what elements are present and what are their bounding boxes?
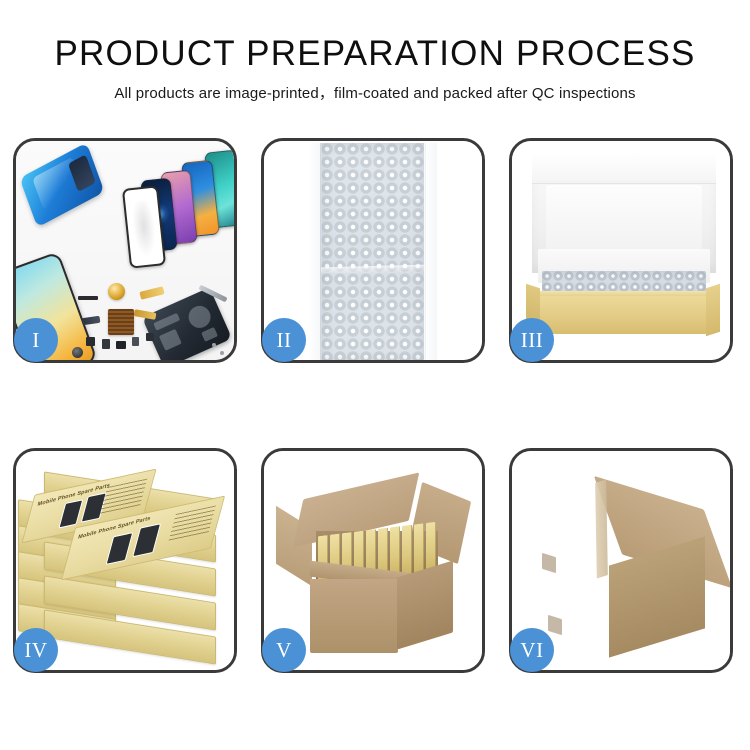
process-steps-grid: I II III [13,138,737,673]
earpiece-speaker-icon [78,296,98,300]
carton-seam-2-icon [548,615,562,635]
product-preparation-infographic: PRODUCT PREPARATION PROCESS All products… [0,0,750,750]
step-badge-6: VI [510,628,554,672]
bubble-wrap-icon [320,143,426,360]
chip-grid-icon [108,309,134,335]
box-print-phone-1-icon [58,499,83,528]
inner-box-base-icon [530,296,716,334]
flex-cable-a-icon [139,286,164,300]
box-print-phone-3-icon [106,532,134,565]
bubble-wrap-edge-right [424,143,437,360]
connector-3-icon [116,341,126,349]
process-step-panel-4: Mobile Phone Spare Parts Mobile Phone Sp… [13,448,237,673]
flex-cable-c-icon [82,316,101,325]
box-print-spec-lines-front [168,506,215,542]
process-step-panel-1: I [13,138,237,363]
screw-2-icon [220,351,224,355]
connector-4-icon [132,337,139,346]
process-step-panel-2: II [261,138,485,363]
connector-5-icon [146,333,154,341]
step-badge-4: IV [14,628,58,672]
page-subtitle: All products are image-printed，film-coat… [0,82,750,103]
bubble-wrap-edge-left [309,143,322,360]
box-print-phone-4-icon [132,523,161,557]
packed-box-9 [414,523,424,574]
connector-2-icon [102,339,110,349]
header: PRODUCT PREPARATION PROCESS All products… [0,0,750,103]
process-step-panel-6: VI [509,448,733,673]
repair-tool-icon [198,285,227,303]
process-step-panel-3: III [509,138,733,363]
carton-front-face-icon [310,579,398,653]
process-step-panel-5: V [261,448,485,673]
connector-1-icon [86,337,95,346]
camera-module-icon [72,347,83,358]
carton-side-face-icon [397,560,453,649]
step-badge-5: V [262,628,306,672]
flex-cable-b-icon [134,309,157,320]
step-badge-1: I [14,318,58,362]
step-badge-2: II [262,318,306,362]
vibration-coil-icon [108,283,125,300]
page-title: PRODUCT PREPARATION PROCESS [0,36,750,73]
screw-1-icon [212,343,216,347]
packed-box-8 [402,525,412,576]
step-badge-3: III [510,318,554,362]
